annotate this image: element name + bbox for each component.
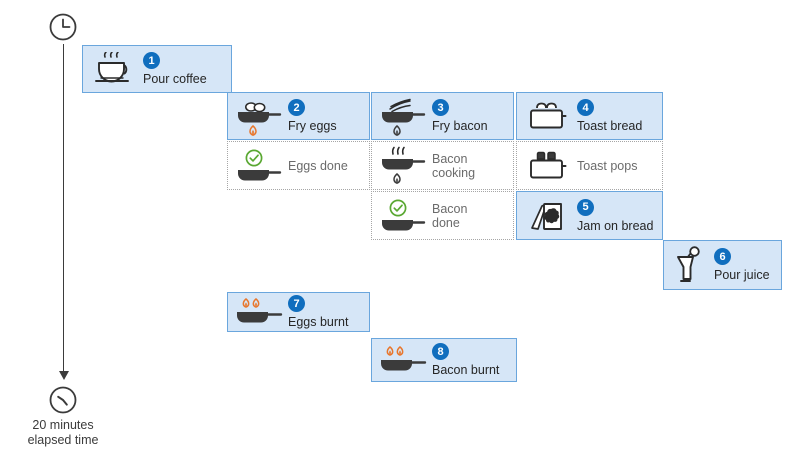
task-jam-on-bread[interactable]: 5 Jam on bread <box>516 191 663 240</box>
pan-two-flames-icon <box>228 293 288 331</box>
step-badge: 4 <box>577 99 594 116</box>
task-meta: 6 Pour juice <box>714 248 781 282</box>
breakfast-timeline-diagram: 20 minutes elapsed time 1 Pour coffee <box>0 0 797 460</box>
task-toast-bread[interactable]: 4 Toast bread <box>516 92 663 140</box>
pan-steam-flame-icon <box>372 142 432 189</box>
task-pour-coffee[interactable]: 1 Pour coffee <box>82 45 232 93</box>
clock-elapsed-icon <box>48 385 78 415</box>
task-label: Eggs burnt <box>288 315 363 329</box>
task-eggs-burnt[interactable]: 7 Eggs burnt <box>227 292 370 332</box>
task-meta: Bacon cooking <box>432 152 513 180</box>
timeline-axis <box>63 44 64 374</box>
task-meta: 5 Jam on bread <box>577 199 662 233</box>
task-label: Toast pops <box>577 159 656 173</box>
task-meta: 8 Bacon burnt <box>432 343 516 377</box>
toaster-popped-icon <box>517 142 577 189</box>
task-pour-juice[interactable]: 6 Pour juice <box>663 240 782 290</box>
pan-check-icon <box>372 192 432 239</box>
coffee-cup-icon <box>83 46 143 92</box>
task-meta: Bacon done <box>432 202 513 230</box>
step-badge: 5 <box>577 199 594 216</box>
task-label: Fry bacon <box>432 119 507 133</box>
task-fry-eggs[interactable]: 2 Fry eggs <box>227 92 370 140</box>
task-meta: 3 Fry bacon <box>432 99 513 133</box>
step-badge: 2 <box>288 99 305 116</box>
task-label: Bacon done <box>432 202 507 230</box>
pan-bacon-flame-icon <box>372 93 432 139</box>
task-label: Fry eggs <box>288 119 363 133</box>
elapsed-time-label: 20 minutes elapsed time <box>8 418 118 448</box>
pan-two-flames-icon <box>372 339 432 381</box>
clock-icon <box>48 12 78 42</box>
step-badge: 1 <box>143 52 160 69</box>
task-fry-bacon[interactable]: 3 Fry bacon <box>371 92 514 140</box>
task-eggs-done[interactable]: Eggs done <box>227 141 370 190</box>
step-badge: 6 <box>714 248 731 265</box>
task-toast-pops[interactable]: Toast pops <box>516 141 663 190</box>
step-badge: 8 <box>432 343 449 360</box>
task-meta: Toast pops <box>577 159 662 173</box>
task-meta: 7 Eggs burnt <box>288 295 369 329</box>
timeline-arrow-icon <box>59 371 69 380</box>
task-label: Bacon burnt <box>432 363 510 377</box>
jam-knife-bread-icon <box>517 192 577 239</box>
task-label: Jam on bread <box>577 219 656 233</box>
task-bacon-burnt[interactable]: 8 Bacon burnt <box>371 338 517 382</box>
task-label: Pour juice <box>714 268 775 282</box>
pan-check-icon <box>228 142 288 189</box>
task-bacon-cooking[interactable]: Bacon cooking <box>371 141 514 190</box>
juice-glass-icon <box>664 241 714 289</box>
task-label: Bacon cooking <box>432 152 507 180</box>
step-badge: 7 <box>288 295 305 312</box>
pan-eggs-flame-icon <box>228 93 288 139</box>
task-meta: 4 Toast bread <box>577 99 662 133</box>
task-label: Pour coffee <box>143 72 225 86</box>
task-bacon-done[interactable]: Bacon done <box>371 191 514 240</box>
step-badge: 3 <box>432 99 449 116</box>
task-meta: 1 Pour coffee <box>143 52 231 86</box>
task-label: Eggs done <box>288 159 363 173</box>
task-meta: 2 Fry eggs <box>288 99 369 133</box>
task-label: Toast bread <box>577 119 656 133</box>
task-meta: Eggs done <box>288 159 369 173</box>
toaster-bread-icon <box>517 93 577 139</box>
